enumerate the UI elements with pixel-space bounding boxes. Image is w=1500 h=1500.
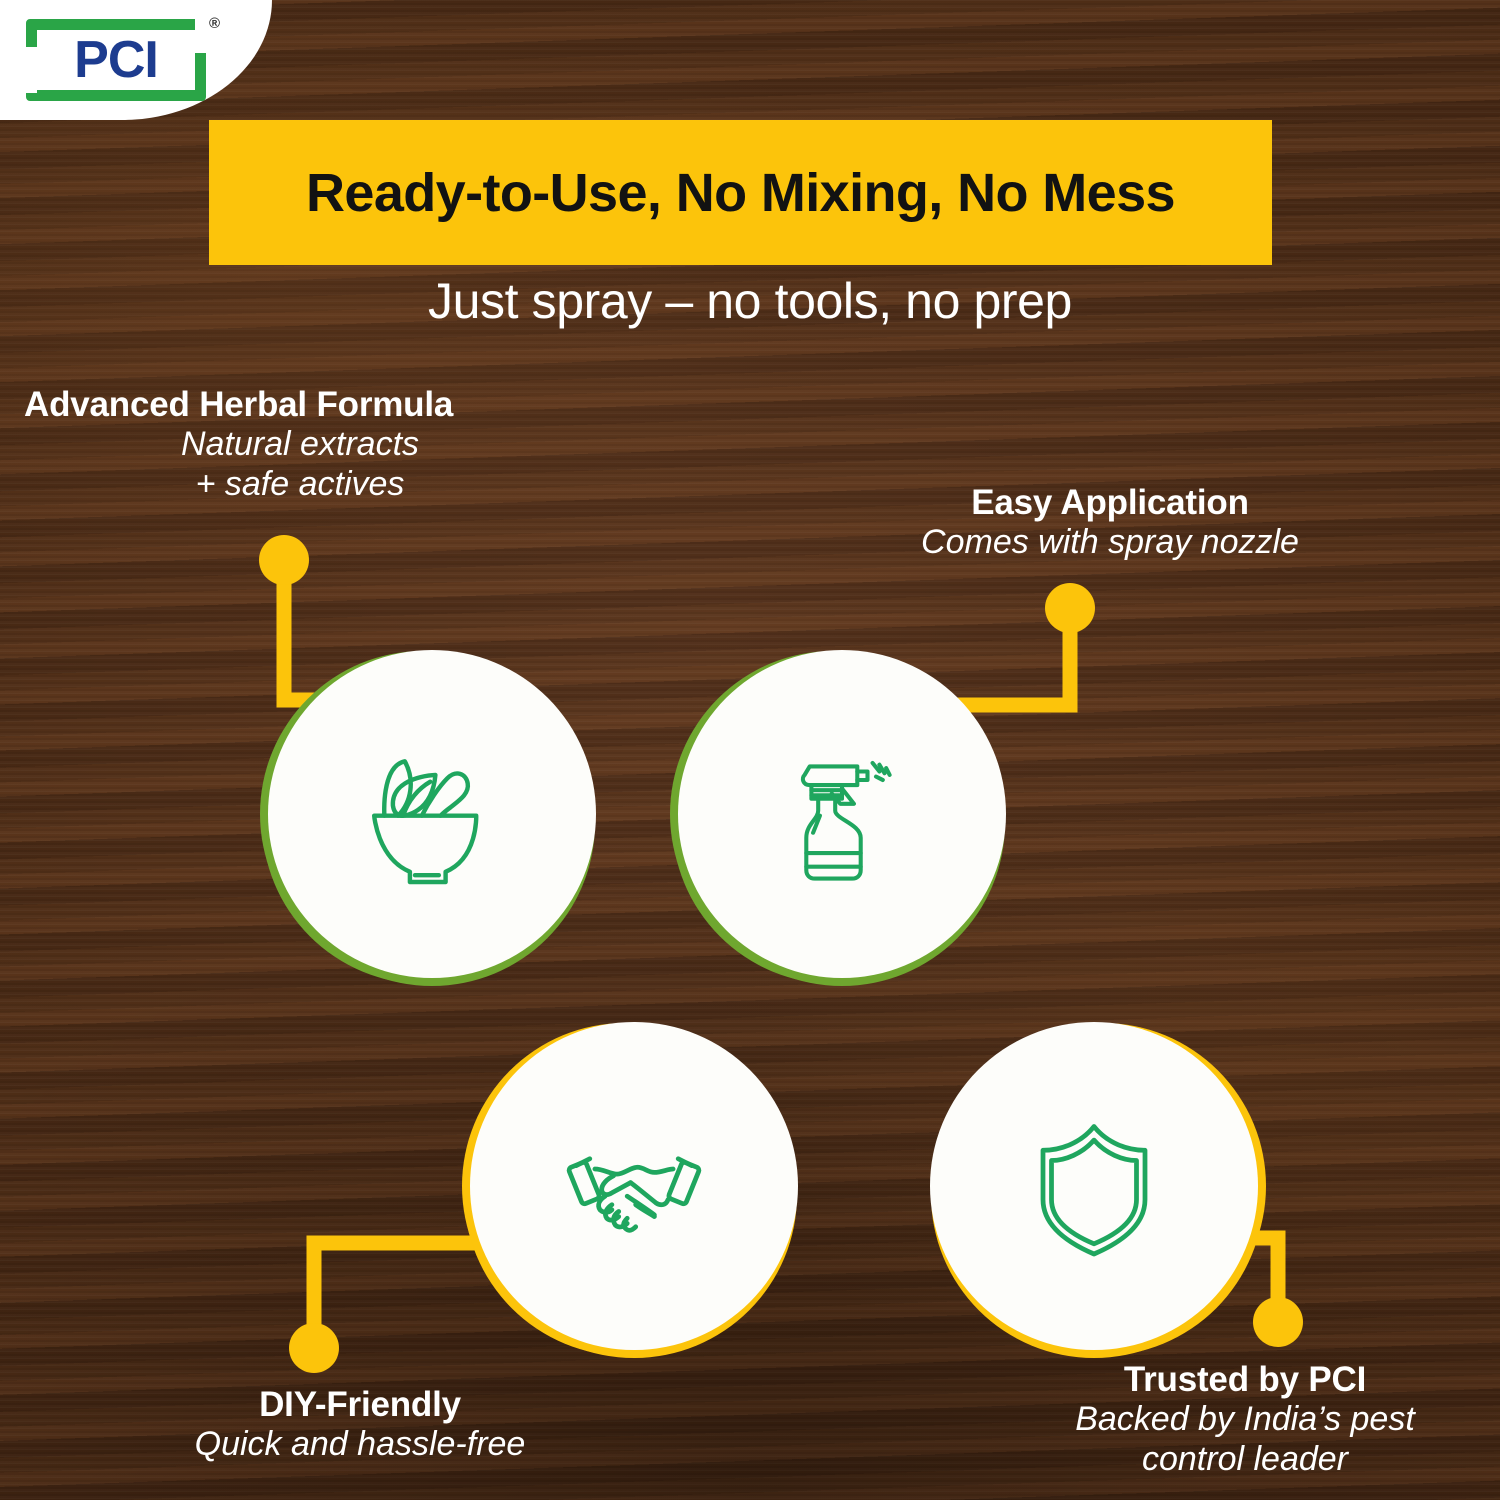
- mortar-pestle-leaf-icon: [347, 729, 517, 899]
- feature-subtitle-herbal-line2: + safe actives: [20, 464, 580, 504]
- feature-bubble-herbal[interactable]: [268, 650, 596, 978]
- handshake-icon: [549, 1101, 719, 1271]
- feature-bubble-diy[interactable]: [470, 1022, 798, 1350]
- headline-banner: Ready-to-Use, No Mixing, No Mess: [209, 120, 1272, 265]
- feature-subtitle-trusted-line1: Backed by India’s pest: [1000, 1399, 1490, 1439]
- feature-subtitle-herbal-line1: Natural extracts: [20, 424, 580, 464]
- feature-bubble-spray[interactable]: [678, 650, 1006, 978]
- spray-bottle-icon: [757, 729, 927, 899]
- feature-label-diy: DIY-Friendly Quick and hassle-free: [70, 1385, 650, 1464]
- connector-dot-spray: [1045, 583, 1095, 633]
- feature-label-trusted: Trusted by PCI Backed by India’s pest co…: [1000, 1360, 1490, 1479]
- feature-bubble-trusted[interactable]: [930, 1022, 1258, 1350]
- feature-title-spray: Easy Application: [830, 483, 1390, 522]
- feature-subtitle-trusted-line2: control leader: [1000, 1439, 1490, 1479]
- feature-title-trusted: Trusted by PCI: [1000, 1360, 1490, 1399]
- registered-trademark-icon: ®: [209, 15, 220, 32]
- logo-text: PCI: [74, 34, 158, 86]
- connector-dot-herbal: [259, 535, 309, 585]
- feature-title-diy: DIY-Friendly: [70, 1385, 650, 1424]
- connector-dot-diy: [289, 1323, 339, 1373]
- shield-icon: [1009, 1101, 1179, 1271]
- feature-title-herbal: Advanced Herbal Formula: [20, 385, 580, 424]
- feature-label-herbal: Advanced Herbal Formula Natural extracts…: [20, 385, 580, 504]
- page-subtitle: Just spray – no tools, no prep: [0, 272, 1500, 330]
- feature-subtitle-diy-line1: Quick and hassle-free: [70, 1424, 650, 1464]
- page-title: Ready-to-Use, No Mixing, No Mess: [306, 162, 1175, 224]
- pci-logo-mark: PCI ®: [26, 19, 206, 101]
- connector-dot-trusted: [1253, 1297, 1303, 1347]
- feature-label-spray: Easy Application Comes with spray nozzle: [830, 483, 1390, 562]
- feature-subtitle-spray-line1: Comes with spray nozzle: [830, 522, 1390, 562]
